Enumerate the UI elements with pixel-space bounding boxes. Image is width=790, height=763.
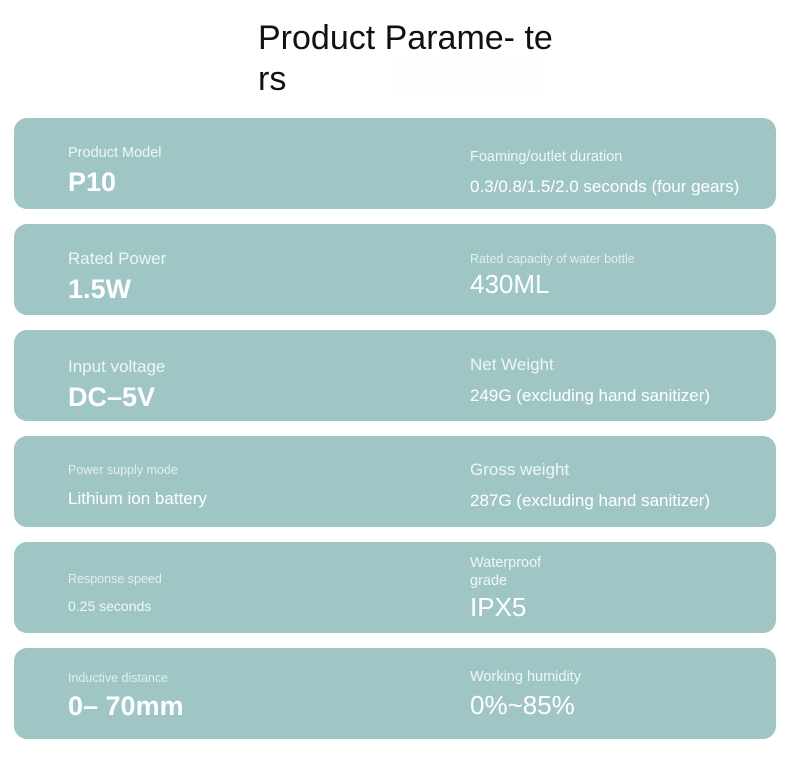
spec-value: 0– 70mm: [68, 690, 448, 722]
spec-cell-gross-weight: Gross weight 287G (excluding hand saniti…: [456, 436, 776, 527]
spec-cell-input-voltage: Input voltage DC–5V: [68, 330, 448, 421]
spec-label: Rated capacity of water bottle: [470, 251, 776, 267]
spec-label: Working humidity: [470, 668, 776, 686]
spec-cell-water-bottle-capacity: Rated capacity of water bottle 430ML: [456, 224, 776, 315]
spec-value: DC–5V: [68, 381, 448, 413]
spec-card: Input voltage DC–5V Net Weight 249G (exc…: [14, 330, 776, 421]
spec-value: Lithium ion battery: [68, 488, 448, 509]
spec-value: 0.3/0.8/1.5/2.0 seconds (four gears): [470, 176, 776, 197]
spec-label: Gross weight: [470, 459, 776, 480]
spec-label: Inductive distance: [68, 670, 448, 686]
spec-label: Rated Power: [68, 248, 448, 269]
spec-card: Response speed 0.25 seconds Waterproof g…: [14, 542, 776, 633]
spec-value: 0.25 seconds: [68, 597, 448, 615]
spec-value: 287G (excluding hand sanitizer): [470, 490, 776, 511]
spec-cell-waterproof-grade: Waterproof grade IPX5: [456, 542, 776, 633]
spec-label: Response speed: [68, 571, 448, 587]
spec-value: P10: [68, 166, 448, 198]
spec-label: Input voltage: [68, 356, 448, 377]
spec-value: 249G (excluding hand sanitizer): [470, 385, 776, 406]
spec-value: IPX5: [470, 592, 776, 623]
spec-cell-working-humidity: Working humidity 0%~85%: [456, 648, 776, 739]
spec-label: Power supply mode: [68, 462, 448, 478]
page-title-container: Product Parame- ters: [258, 18, 558, 100]
product-parameters-page: Product Parame- ters Product Model P10 F…: [0, 0, 790, 763]
spec-label: Waterproof grade: [470, 554, 776, 590]
spec-cell-inductive-distance: Inductive distance 0– 70mm: [68, 648, 448, 739]
spec-card: Product Model P10 Foaming/outlet duratio…: [14, 118, 776, 209]
spec-cell-product-model: Product Model P10: [68, 118, 448, 209]
spec-value: 1.5W: [68, 273, 448, 305]
spec-label: Product Model: [68, 144, 448, 162]
spec-cell-power-supply-mode: Power supply mode Lithium ion battery: [68, 436, 448, 527]
spec-label: Net Weight: [470, 354, 776, 375]
spec-label: Foaming/outlet duration: [470, 148, 776, 166]
spec-card: Rated Power 1.5W Rated capacity of water…: [14, 224, 776, 315]
spec-cell-response-speed: Response speed 0.25 seconds: [68, 542, 448, 633]
spec-value: 430ML: [470, 269, 776, 300]
spec-cell-foaming-duration: Foaming/outlet duration 0.3/0.8/1.5/2.0 …: [456, 118, 776, 209]
spec-value: 0%~85%: [470, 690, 776, 721]
spec-card-list: Product Model P10 Foaming/outlet duratio…: [14, 118, 776, 754]
spec-card: Power supply mode Lithium ion battery Gr…: [14, 436, 776, 527]
spec-cell-net-weight: Net Weight 249G (excluding hand sanitize…: [456, 330, 776, 421]
spec-cell-rated-power: Rated Power 1.5W: [68, 224, 448, 315]
page-title: Product Parame- ters: [258, 18, 558, 100]
spec-card: Inductive distance 0– 70mm Working humid…: [14, 648, 776, 739]
